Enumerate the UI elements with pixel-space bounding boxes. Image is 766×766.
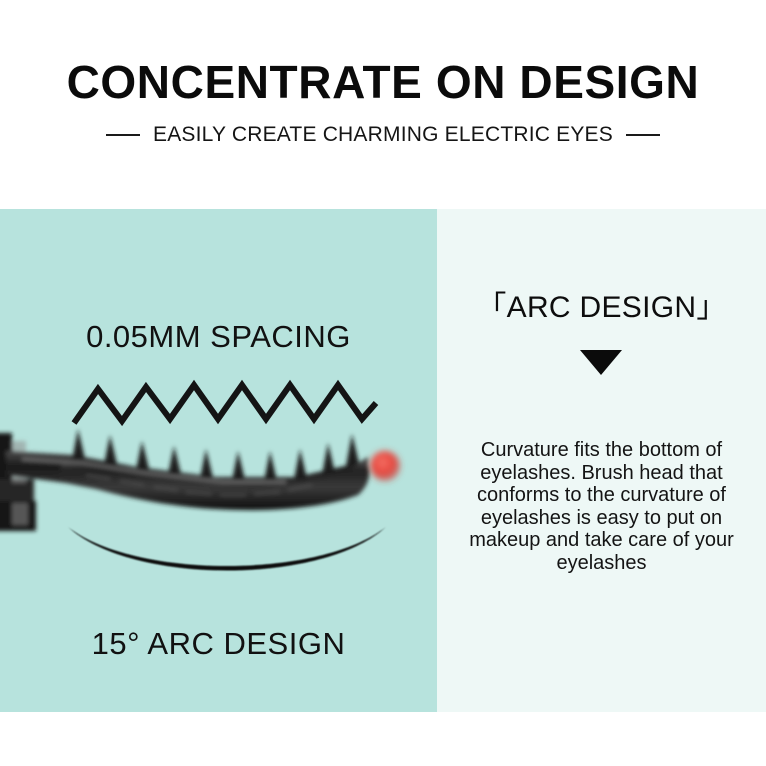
arc-design-label: 15° ARC DESIGN xyxy=(0,626,437,662)
arc-design-heading-text: ARC DESIGN xyxy=(507,291,697,324)
arc-design-heading: 「ARC DESIGN」 xyxy=(437,290,766,326)
spacing-label: 0.05MM SPACING xyxy=(0,319,437,355)
bracket-open-icon: 「 xyxy=(476,291,506,324)
page-subtitle: EASILY CREATE CHARMING ELECTRIC EYES xyxy=(153,122,613,147)
subtitle-rule-right xyxy=(626,134,660,136)
subtitle-rule-left xyxy=(106,134,140,136)
panel-spacing-feature: 0.05MM SPACING xyxy=(0,209,437,712)
arc-curve-icon xyxy=(62,519,392,589)
panel-arc-design: 「ARC DESIGN」 Curvature fits the bottom o… xyxy=(437,209,766,712)
down-triangle-icon xyxy=(580,350,622,375)
header-banner: CONCENTRATE ON DESIGN EASILY CREATE CHAR… xyxy=(0,0,766,209)
subtitle-row: EASILY CREATE CHARMING ELECTRIC EYES xyxy=(0,122,766,147)
brush-tip-highlight xyxy=(370,451,400,481)
feature-panels: 0.05MM SPACING xyxy=(0,209,766,712)
bracket-close-icon: 」 xyxy=(696,291,726,324)
page-title: CONCENTRATE ON DESIGN xyxy=(0,56,766,108)
arc-design-description: Curvature fits the bottom of eyelashes. … xyxy=(445,439,758,574)
